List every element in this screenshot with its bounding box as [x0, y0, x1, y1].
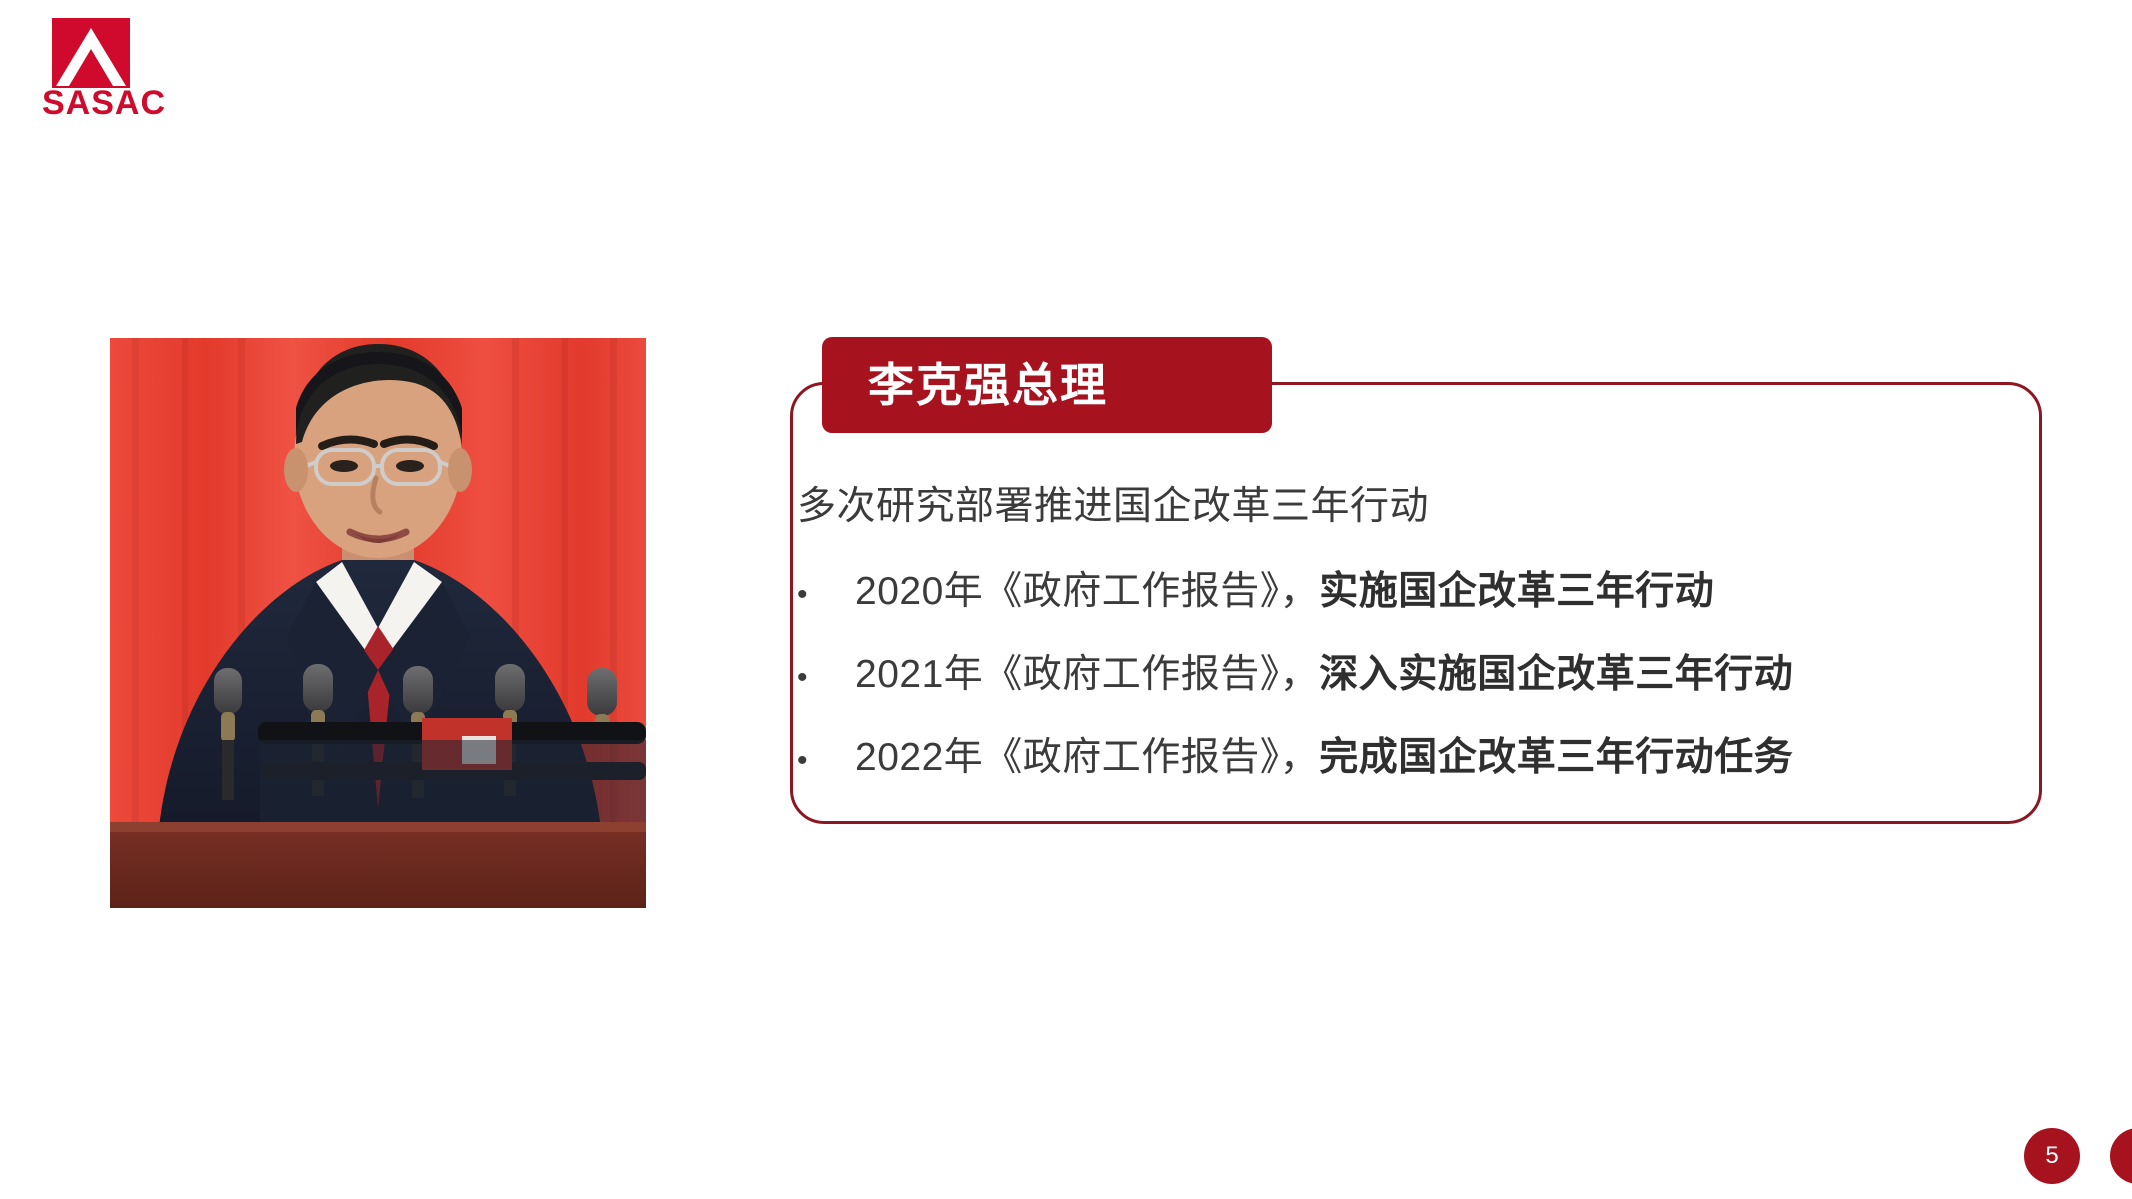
svg-text:SASAC: SASAC: [42, 84, 166, 122]
page-number-badge[interactable]: 5: [2024, 1128, 2080, 1184]
list-item: • 2021年《政府工作报告》，深入实施国企改革三年行动: [797, 655, 2027, 694]
bullet-dot-icon: •: [797, 663, 855, 693]
premier-photo: [110, 338, 646, 908]
card-body: 多次研究部署推进国企改革三年行动 • 2020年《政府工作报告》，实施国企改革三…: [797, 487, 2027, 777]
bullet-bold-text: 实施国企改革三年行动: [1319, 570, 1714, 613]
card-title-banner: 李克强总理: [822, 337, 1272, 433]
bullet-dot-icon: •: [797, 746, 855, 776]
bullet-dot-icon: •: [797, 580, 855, 610]
lead-paragraph: 多次研究部署推进国企改革三年行动: [797, 487, 2027, 526]
list-item: • 2022年《政府工作报告》，完成国企改革三年行动任务: [797, 738, 2027, 777]
page-number-badge-next[interactable]: [2110, 1128, 2132, 1184]
bullet-bold-text: 完成国企改革三年行动任务: [1319, 736, 1793, 779]
bullet-bold-text: 深入实施国企改革三年行动: [1319, 653, 1793, 696]
bullet-text: 2021年《政府工作报告》，深入实施国企改革三年行动: [855, 655, 1793, 694]
card-title-text: 李克强总理: [868, 362, 1108, 408]
list-item: • 2020年《政府工作报告》，实施国企改革三年行动: [797, 572, 2027, 611]
bullet-normal-text: 2022年《政府工作报告》，: [855, 736, 1319, 779]
bullet-normal-text: 2020年《政府工作报告》，: [855, 570, 1319, 613]
bullet-text: 2022年《政府工作报告》，完成国企改革三年行动任务: [855, 738, 1793, 777]
bullet-normal-text: 2021年《政府工作报告》，: [855, 653, 1319, 696]
sasac-logo: SASAC: [34, 18, 174, 123]
slide-canvas: SASAC: [0, 0, 2132, 1199]
bullet-list: • 2020年《政府工作报告》，实施国企改革三年行动 • 2021年《政府工作报…: [797, 572, 2027, 777]
bullet-text: 2020年《政府工作报告》，实施国企改革三年行动: [855, 572, 1714, 611]
